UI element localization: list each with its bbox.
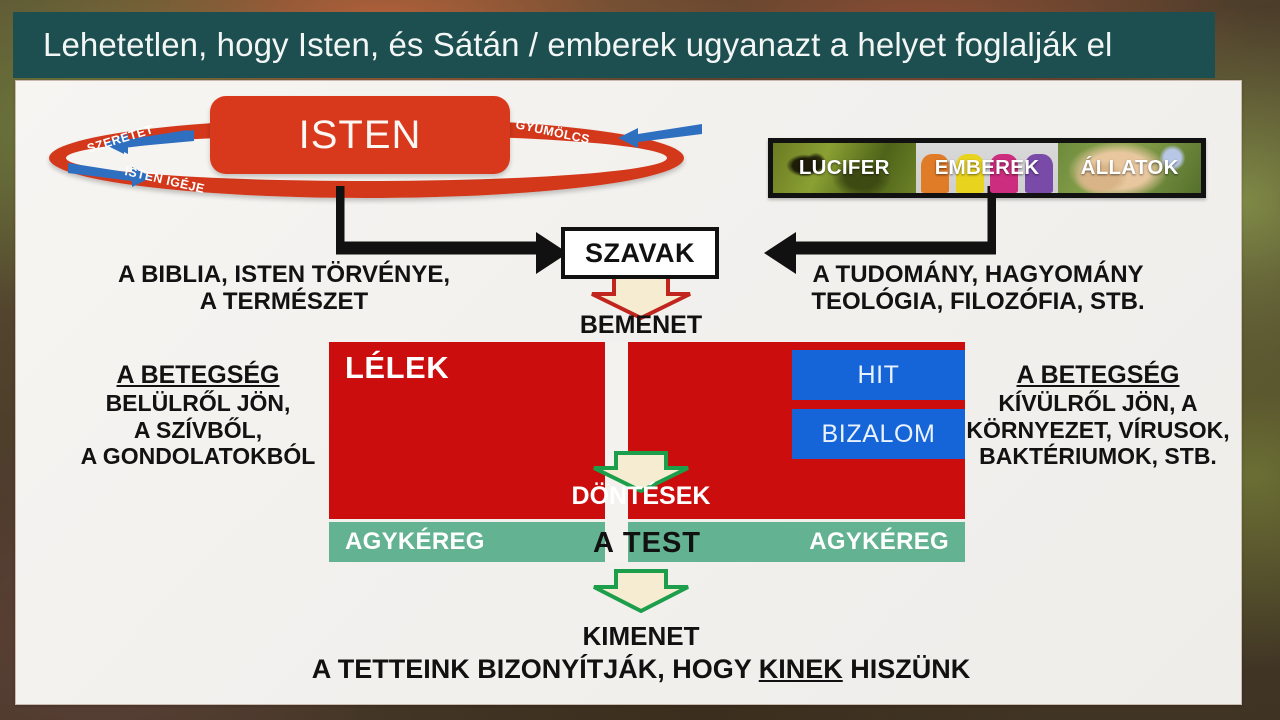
- panel-label-lucifer: LUCIFER: [799, 156, 890, 180]
- left-sources-line-2: A TERMÉSZET: [74, 289, 494, 316]
- faith-box-hit: HIT: [792, 350, 965, 400]
- output-label: KIMENET: [416, 621, 866, 652]
- words-node: SZAVAK: [561, 227, 719, 279]
- left-sources-caption: A BIBLIA, ISTEN TÖRVÉNYE, A TERMÉSZET: [74, 262, 494, 316]
- input-label: BEMENET: [521, 311, 761, 340]
- soul-label: LÉLEK: [345, 350, 449, 386]
- panel-allatok: ÁLLATOK: [1058, 143, 1201, 193]
- footer-statement: A TETTEINK BIZONYÍTJÁK, HOGY KINEK HISZÜ…: [166, 654, 1116, 685]
- left-disease-heading: A BETEGSÉG: [68, 361, 328, 390]
- arrow-gyumolcs-icon: [590, 118, 710, 152]
- footer-part-2: HISZÜNK: [843, 654, 971, 684]
- right-sources-caption: A TUDOMÁNY, HAGYOMÁNY TEOLÓGIA, FILOZÓFI…: [758, 262, 1198, 316]
- left-disease-line-3: A GONDOLATOKBÓL: [68, 443, 328, 470]
- right-disease-heading: A BETEGSÉG: [954, 361, 1242, 390]
- decisions-label: DÖNTÉSEK: [521, 482, 761, 511]
- left-sources-line-1: A BIBLIA, ISTEN TÖRVÉNYE,: [74, 262, 494, 289]
- slide-title-bar: Lehetetlen, hogy Isten, és Sátán / ember…: [13, 12, 1215, 78]
- left-disease-line-1: BELÜLRŐL JÖN,: [68, 390, 328, 417]
- words-node-label: SZAVAK: [585, 238, 695, 269]
- god-label: ISTEN: [299, 113, 422, 158]
- panel-emberek: EMBEREK: [916, 143, 1059, 193]
- right-sources-line-1: A TUDOMÁNY, HAGYOMÁNY: [758, 262, 1198, 289]
- panel-label-allatok: ÁLLATOK: [1081, 156, 1179, 180]
- left-disease-line-2: A SZÍVBŐL,: [68, 417, 328, 444]
- footer-emphasis: KINEK: [759, 654, 843, 684]
- footer-part-1: A TETTEINK BIZONYÍTJÁK, HOGY: [312, 654, 759, 684]
- body-label: A TEST: [329, 527, 965, 560]
- faith-box-bizalom: BIZALOM: [792, 409, 965, 459]
- left-disease-block: A BETEGSÉG BELÜLRŐL JÖN, A SZÍVBŐL, A GO…: [68, 361, 328, 470]
- faith-box-bizalom-label: BIZALOM: [822, 420, 936, 449]
- right-disease-block: A BETEGSÉG KÍVÜLRŐL JÖN, A KÖRNYEZET, VÍ…: [954, 361, 1242, 470]
- right-disease-line-2: KÖRNYEZET, VÍRUSOK,: [954, 417, 1242, 444]
- right-disease-line-1: KÍVÜLRŐL JÖN, A: [954, 390, 1242, 417]
- page-title: Lehetetlen, hogy Isten, és Sátán / ember…: [13, 26, 1113, 64]
- slide-canvas: Lehetetlen, hogy Isten, és Sátán / ember…: [0, 0, 1280, 720]
- slide-content-card: SZERETET ISTEN IGÉJE GYÜMÖLCS ISTEN LUCI…: [15, 80, 1242, 705]
- faith-box-hit-label: HIT: [857, 361, 899, 390]
- god-label-box: ISTEN: [210, 96, 510, 174]
- right-sources-line-2: TEOLÓGIA, FILOZÓFIA, STB.: [758, 289, 1198, 316]
- right-disease-line-3: BAKTÉRIUMOK, STB.: [954, 443, 1242, 470]
- output-arrow-icon: [586, 569, 696, 613]
- panel-label-emberek: EMBEREK: [935, 156, 1040, 180]
